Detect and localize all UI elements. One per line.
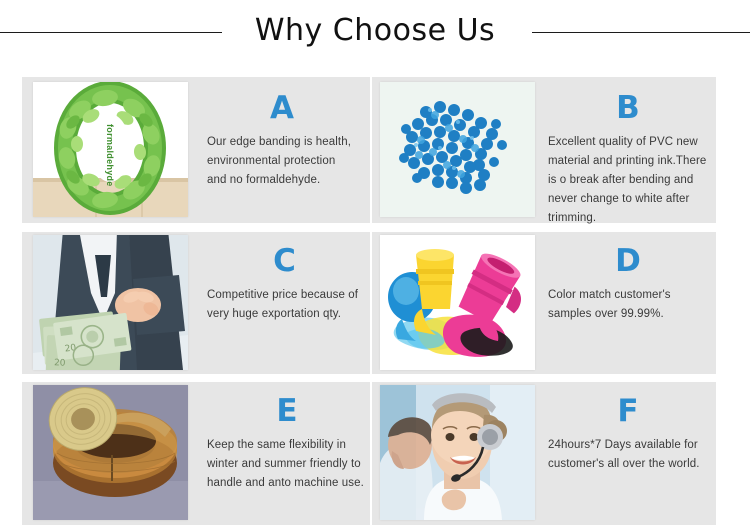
feature-letter-d: D [548, 244, 708, 278]
svg-text:20: 20 [54, 358, 66, 368]
feature-letter-b: B [548, 91, 708, 125]
feature-letter-e: E [207, 394, 367, 428]
blue-pvc-granules-image [380, 82, 535, 217]
feature-text-f: 24hours*7 Days available for customer's … [548, 436, 708, 474]
header-rule-right [532, 32, 750, 33]
feature-text-a: Our edge banding is health, environmenta… [207, 133, 357, 190]
feature-text-e: Keep the same flexibility in winter and … [207, 436, 367, 493]
feature-letter-f: F [548, 394, 708, 428]
feature-letter-c: C [207, 244, 362, 278]
page-header: Why Choose Us [0, 0, 750, 62]
wood-edge-banding-rolls-image [33, 385, 188, 520]
formaldehyde-vertical-caption: formaldehyde [105, 124, 115, 187]
zero-formaldehyde-leaves-image: formaldehyde [33, 82, 188, 217]
feature-letter-a: A [207, 91, 357, 125]
page-title: Why Choose Us [0, 11, 750, 51]
feature-text-c: Competitive price because of very huge e… [207, 286, 362, 324]
feature-text-b: Excellent quality of PVC new material an… [548, 133, 708, 228]
cmyk-paint-cans-image [380, 235, 535, 370]
businessman-holding-money-image: 20 20 [33, 235, 188, 370]
feature-text-d: Color match customer's samples over 99.9… [548, 286, 708, 324]
features-grid: formaldehyde A Our edge banding is healt… [0, 62, 750, 525]
call-center-agent-headset-image [380, 385, 535, 520]
